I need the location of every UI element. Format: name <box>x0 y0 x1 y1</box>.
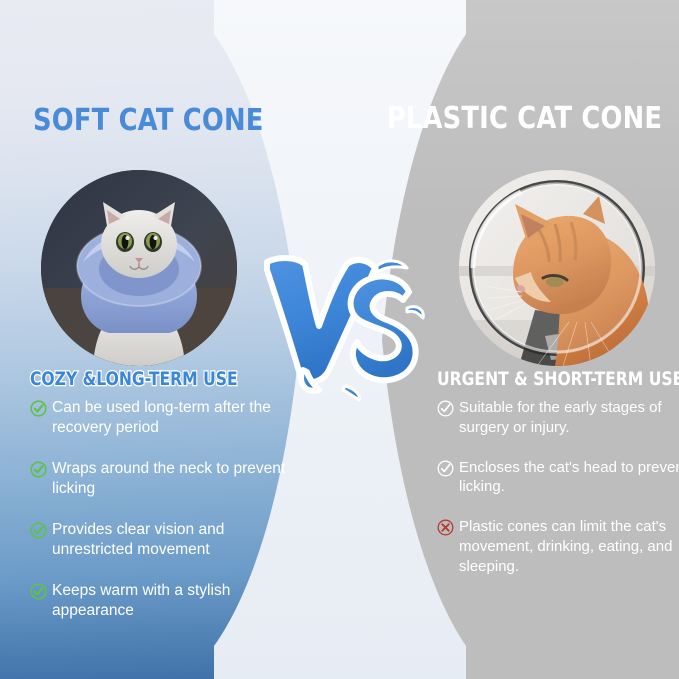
list-item-label: Suitable for the early stages of surgery… <box>459 398 679 438</box>
list-item-label: Wraps around the neck to prevent licking <box>52 459 298 500</box>
plastic-cone-cat-photo <box>459 170 655 366</box>
list-item: Encloses the cat's head to prevent licki… <box>437 458 679 498</box>
comparison-infographic: SOFT CAT CONE <box>0 0 679 679</box>
list-item-label: Encloses the cat's head to prevent licki… <box>459 458 679 498</box>
check-circle-icon <box>437 460 454 477</box>
left-panel-subtitle: COZY &LONG-TERM USE <box>30 370 238 389</box>
right-feature-list: Suitable for the early stages of surgery… <box>437 398 679 597</box>
check-circle-icon <box>30 522 47 539</box>
list-item: Plastic cones can limit the cat's moveme… <box>437 517 679 576</box>
left-feature-list: Can be used long-term after the recovery… <box>30 398 298 642</box>
check-circle-icon <box>30 400 47 417</box>
cross-circle-icon <box>437 519 454 536</box>
check-circle-icon <box>30 583 47 600</box>
list-item: Keeps warm with a stylish appearance <box>30 581 298 622</box>
list-item-label: Provides clear vision and unrestricted m… <box>52 520 298 561</box>
list-item-label: Keeps warm with a stylish appearance <box>52 581 298 622</box>
right-panel-title: PLASTIC CAT CONE <box>387 104 662 134</box>
check-circle-icon <box>437 400 454 417</box>
list-item: Suitable for the early stages of surgery… <box>437 398 679 438</box>
list-item: Can be used long-term after the recovery… <box>30 398 298 439</box>
list-item: Provides clear vision and unrestricted m… <box>30 520 298 561</box>
soft-cone-cat-photo <box>41 170 237 366</box>
list-item: Wraps around the neck to prevent licking <box>30 459 298 500</box>
check-circle-icon <box>30 461 47 478</box>
list-item-label: Can be used long-term after the recovery… <box>52 398 298 439</box>
list-item-label: Plastic cones can limit the cat's moveme… <box>459 517 679 576</box>
left-panel-title: SOFT CAT CONE <box>33 106 264 136</box>
right-panel-subtitle: URGENT & SHORT-TERM USE <box>437 370 679 389</box>
